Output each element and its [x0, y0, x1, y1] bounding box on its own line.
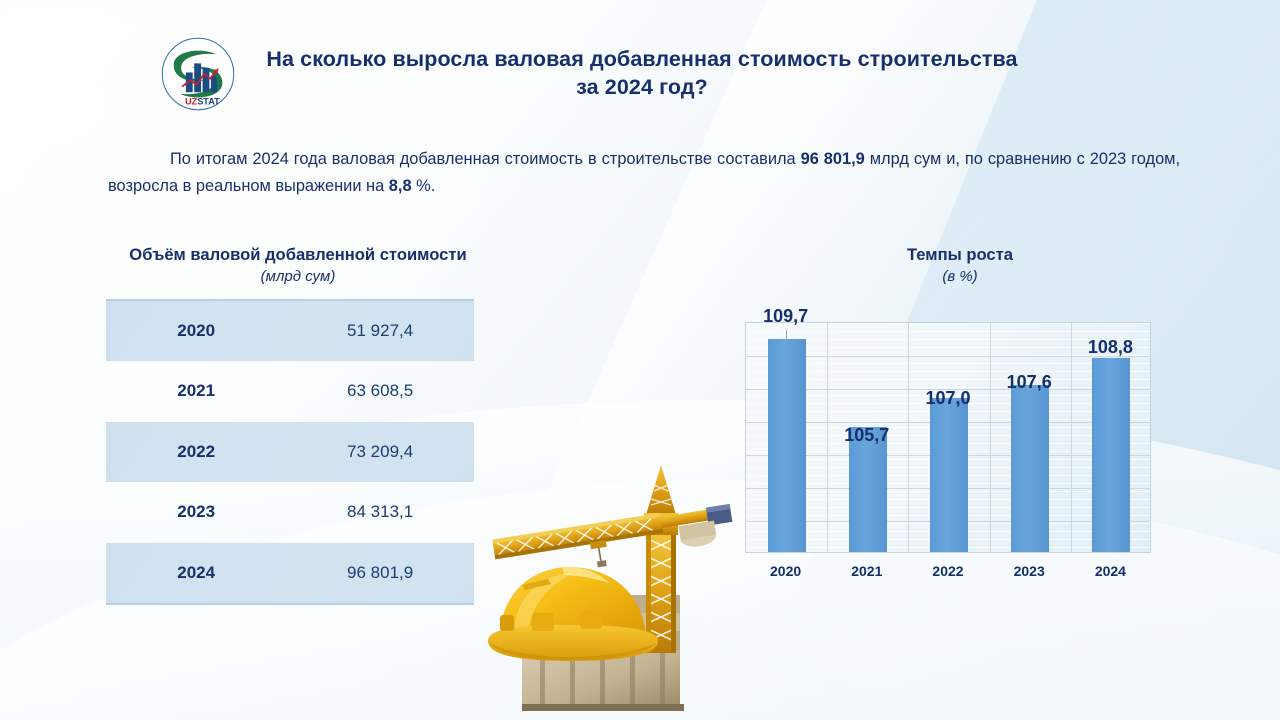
x-axis-label: 2023 [1014, 563, 1045, 579]
x-axis-label: 2024 [1095, 563, 1126, 579]
svg-text:STAT: STAT [197, 96, 220, 106]
table-row: 2021 63 608,5 [106, 361, 474, 422]
gridline-vertical [1071, 323, 1072, 552]
construction-crane-helmet-building-illustration [470, 455, 760, 720]
table-cell-value: 96 801,9 [286, 563, 474, 583]
table-cell-year: 2020 [106, 321, 286, 341]
chart-bar[interactable] [1011, 385, 1049, 552]
table-cell-year: 2022 [106, 442, 286, 462]
intro-text-1: По итогам 2024 года валовая добавленная … [170, 150, 801, 168]
value-leader-line [786, 330, 787, 340]
table-row: 2024 96 801,9 [106, 543, 474, 604]
bar-value-label: 107,6 [1007, 372, 1052, 393]
bar-value-label: 108,8 [1088, 337, 1133, 358]
page-title: На сколько выросла валовая добавленная с… [254, 46, 1040, 102]
chart-bar[interactable] [768, 339, 806, 552]
table-row: 2020 51 927,4 [106, 301, 474, 362]
x-axis-label: 2022 [932, 563, 963, 579]
right-panel: Темпы роста (в %) [730, 245, 1190, 285]
table-cell-value: 73 209,4 [286, 442, 474, 462]
gridline-vertical [990, 323, 991, 552]
gridline-vertical [827, 323, 828, 552]
bar-value-label: 109,7 [763, 306, 808, 327]
chart-bar[interactable] [930, 398, 968, 552]
table-cell-value: 84 313,1 [286, 502, 474, 522]
growth-rate-bar-chart: 109,72020105,72021107,02022107,62023108,… [745, 322, 1151, 553]
x-axis-label: 2021 [851, 563, 882, 579]
table-cell-value: 51 927,4 [286, 321, 474, 341]
uzstat-logo-icon: UZ STAT [160, 36, 236, 112]
svg-text:UZ: UZ [185, 96, 198, 106]
bar-value-label: 105,7 [844, 425, 889, 446]
chart-bar[interactable] [1092, 358, 1130, 552]
table-cell-value: 63 608,5 [286, 381, 474, 401]
chart-title: Темпы роста [730, 245, 1190, 266]
intro-value-total: 96 801,9 [801, 150, 865, 168]
table-cell-year: 2023 [106, 502, 286, 522]
left-panel: Объём валовой добавленной стоимости (млр… [88, 245, 508, 605]
chart-subtitle: (в %) [730, 268, 1190, 285]
intro-text-3: %. [412, 177, 436, 195]
gridline-vertical [908, 323, 909, 552]
bar-value-label: 107,0 [925, 388, 970, 409]
table-row: 2022 73 209,4 [106, 422, 474, 483]
table-cell-year: 2021 [106, 381, 286, 401]
value-table: 2020 51 927,4 2021 63 608,5 2022 73 209,… [106, 299, 474, 606]
x-axis-label: 2020 [770, 563, 801, 579]
slide-canvas: UZ STAT На сколько выросла валовая добав… [0, 0, 1280, 720]
header: UZ STAT На сколько выросла валовая добав… [160, 32, 1040, 116]
table-cell-year: 2024 [106, 563, 286, 583]
left-panel-title: Объём валовой добавленной стоимости [88, 245, 508, 266]
intro-paragraph: По итогам 2024 года валовая добавленная … [108, 146, 1180, 199]
left-panel-subtitle: (млрд сум) [88, 268, 508, 285]
intro-value-growth: 8,8 [389, 177, 412, 195]
table-row: 2023 84 313,1 [106, 482, 474, 543]
